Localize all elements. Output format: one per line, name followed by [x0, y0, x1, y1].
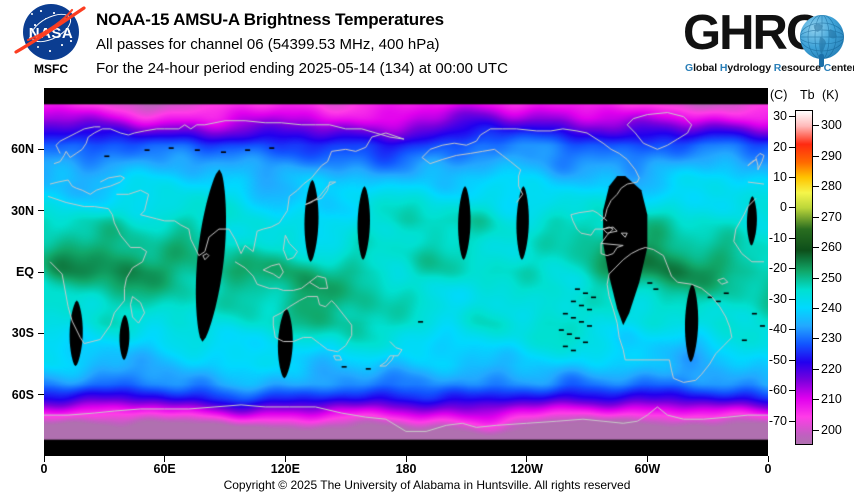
colorbar-tick-celsius — [789, 268, 795, 269]
colorbar-label-celsius: -30 — [761, 292, 787, 306]
colorbar-label-celsius: 10 — [761, 170, 787, 184]
colorbar-label-celsius: 20 — [761, 140, 787, 154]
page-title: NOAA-15 AMSU-A Brightness Temperatures — [96, 10, 444, 30]
colorbar-tick-kelvin — [813, 247, 819, 248]
colorbar — [795, 110, 813, 445]
x-axis-label: 120W — [510, 462, 543, 476]
colorbar-unit-kelvin: (K) — [822, 88, 839, 102]
nasa-logo: NASA MSFC — [10, 4, 90, 84]
colorbar-unit-celsius: (C) — [770, 88, 787, 102]
y-axis-label: 30N — [0, 204, 34, 218]
y-axis-label: 60S — [0, 388, 34, 402]
ghrc-wordmark: GHRC — [683, 6, 819, 60]
header: NASA MSFC NOAA-15 AMSU-A Brightness Temp… — [0, 0, 854, 88]
colorbar-label-celsius: -70 — [761, 414, 787, 428]
colorbar-label-celsius: 30 — [761, 109, 787, 123]
colorbar-tick-kelvin — [813, 430, 819, 431]
colorbar-tick-celsius — [789, 177, 795, 178]
colorbar-tick-celsius — [789, 360, 795, 361]
colorbar-tick-celsius — [789, 116, 795, 117]
colorbar-tick-kelvin — [813, 369, 819, 370]
x-axis-label: 0 — [765, 462, 772, 476]
colorbar-tick-kelvin — [813, 156, 819, 157]
colorbar-tick-celsius — [789, 147, 795, 148]
colorbar-gradient — [795, 110, 813, 445]
ghrc-logo: GHRC Global Hydrology Resource C — [683, 6, 847, 80]
colorbar-label-celsius: -60 — [761, 383, 787, 397]
ghrc-subtitle: Global Hydrology Resource Center — [685, 62, 854, 74]
channel-subtitle: All passes for channel 06 (54399.53 MHz,… — [96, 36, 440, 53]
y-axis-label: 30S — [0, 326, 34, 340]
y-axis-tick — [38, 210, 44, 211]
period-subtitle: For the 24-hour period ending 2025-05-14… — [96, 60, 508, 77]
colorbar-label-kelvin: 210 — [821, 392, 842, 406]
colorbar-label-kelvin: 200 — [821, 423, 842, 437]
colorbar-tick-kelvin — [813, 186, 819, 187]
copyright-notice: Copyright © 2025 The University of Alaba… — [0, 478, 854, 492]
colorbar-label-celsius: -10 — [761, 231, 787, 245]
colorbar-tick-kelvin — [813, 308, 819, 309]
x-axis-label: 120E — [271, 462, 300, 476]
y-axis-label: 60N — [0, 142, 34, 156]
colorbar-label-kelvin: 300 — [821, 118, 842, 132]
x-axis-label: 60E — [154, 462, 176, 476]
colorbar-label-celsius: -40 — [761, 322, 787, 336]
colorbar-label-kelvin: 260 — [821, 240, 842, 254]
x-axis-label: 180 — [396, 462, 417, 476]
nasa-swoosh-icon — [14, 6, 90, 58]
y-axis-tick — [38, 394, 44, 395]
colorbar-label-celsius: 0 — [761, 200, 787, 214]
colorbar-tick-celsius — [789, 329, 795, 330]
map-plot-area — [44, 88, 768, 456]
colorbar-label-kelvin: 250 — [821, 271, 842, 285]
colorbar-tick-kelvin — [813, 399, 819, 400]
colorbar-label-celsius: -20 — [761, 261, 787, 275]
y-axis-label: EQ — [0, 265, 34, 279]
colorbar-label-kelvin: 220 — [821, 362, 842, 376]
colorbar-label-celsius: -50 — [761, 353, 787, 367]
x-axis-label: 60W — [634, 462, 660, 476]
colorbar-tick-kelvin — [813, 338, 819, 339]
colorbar-tick-kelvin — [813, 217, 819, 218]
globe-icon — [800, 15, 844, 59]
x-axis-label: 0 — [41, 462, 48, 476]
brightness-temperature-map — [44, 88, 768, 456]
colorbar-tick-celsius — [789, 299, 795, 300]
y-axis-tick — [38, 272, 44, 273]
colorbar-tick-kelvin — [813, 125, 819, 126]
colorbar-label-kelvin: 280 — [821, 179, 842, 193]
colorbar-tick-kelvin — [813, 278, 819, 279]
colorbar-label-kelvin: 270 — [821, 210, 842, 224]
colorbar-label-kelvin: 290 — [821, 149, 842, 163]
colorbar-tick-celsius — [789, 421, 795, 422]
colorbar-tick-celsius — [789, 207, 795, 208]
y-axis-tick — [38, 333, 44, 334]
y-axis-tick — [38, 149, 44, 150]
colorbar-tick-celsius — [789, 390, 795, 391]
globe-grid — [800, 15, 844, 59]
colorbar-label-kelvin: 240 — [821, 301, 842, 315]
colorbar-label-kelvin: 230 — [821, 331, 842, 345]
colorbar-variable-label: Tb — [800, 88, 815, 102]
colorbar-tick-celsius — [789, 238, 795, 239]
nasa-center-label: MSFC — [10, 62, 92, 76]
